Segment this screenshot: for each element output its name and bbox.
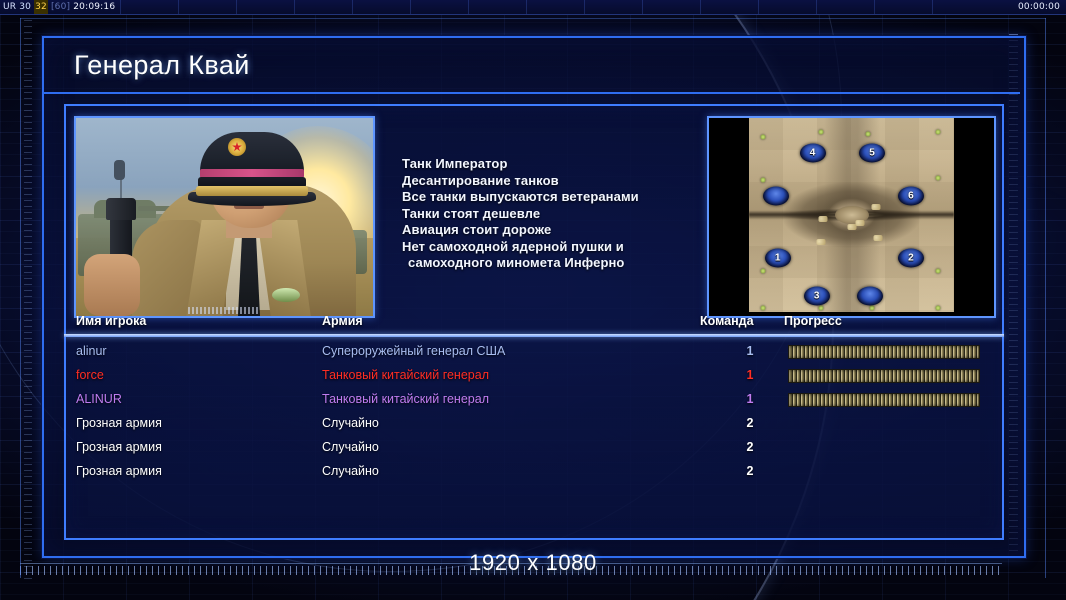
status-right-clock: 00:00:00	[1018, 0, 1066, 14]
edge-line-right	[1045, 18, 1046, 578]
minimap-resource-icon	[935, 129, 940, 134]
info-row: Танк Император Десантирование танков Все…	[66, 106, 1002, 314]
player-name-cell[interactable]: Грозная армия	[76, 435, 162, 459]
minimap-resource-icon	[761, 306, 766, 311]
edge-line-top	[20, 18, 1046, 19]
title-bar: Генерал Квай	[44, 38, 1020, 94]
status-prefix: UR	[3, 0, 16, 14]
progress-bar	[788, 393, 980, 407]
status-value-1: 30	[19, 0, 31, 14]
minimap-spawn-point-3[interactable]: 3	[804, 287, 830, 306]
progress-cell	[788, 345, 1066, 359]
description-line: Десантирование танков	[402, 173, 702, 190]
team-cell[interactable]: 2	[732, 435, 768, 459]
top-status-grid	[120, 0, 976, 14]
description-line: Нет самоходной ядерной пушки и	[402, 239, 702, 256]
progress-cell	[788, 393, 1066, 407]
minimap-spawn-point-4[interactable]: 4	[800, 143, 826, 162]
minimap-supply-pile-icon	[872, 204, 881, 210]
progress-bar	[788, 369, 980, 383]
minimap-resource-icon	[935, 176, 940, 181]
minimap-terrain: 456123	[749, 118, 954, 312]
minimap-resource-icon	[870, 306, 875, 311]
table-row[interactable]: ALINURТанковый китайский генерал1	[66, 387, 1002, 411]
table-row[interactable]: alinurСупероружейный генерал США1	[66, 339, 1002, 363]
description-line: самоходного миномета Инферно	[402, 255, 702, 272]
team-cell[interactable]: 2	[732, 459, 768, 483]
minimap-supply-pile-icon	[818, 216, 827, 222]
minimap-supply-pile-icon	[816, 239, 825, 245]
army-cell[interactable]: Случайно	[322, 411, 379, 435]
player-name-cell[interactable]: ALINUR	[76, 387, 122, 411]
general-description: Танк Император Десантирование танков Все…	[402, 156, 702, 272]
army-cell[interactable]: Танковый китайский генерал	[322, 387, 489, 411]
table-row[interactable]: Грозная армияСлучайно2	[66, 435, 1002, 459]
minimap-spawn-point-1[interactable]: 1	[765, 248, 791, 267]
team-cell[interactable]: 1	[732, 387, 768, 411]
page-title: Генерал Квай	[44, 50, 250, 81]
general-portrait	[74, 116, 375, 318]
status-clock: 20:09:16	[73, 0, 115, 14]
player-name-cell[interactable]: Грозная армия	[76, 459, 162, 483]
player-name-cell[interactable]: force	[76, 363, 104, 387]
game-lobby-screen: UR 30 32 [60] 20:09:16 00:00:00 Генерал …	[0, 0, 1066, 600]
minimap-resource-icon	[761, 178, 766, 183]
minimap-resource-icon	[818, 306, 823, 311]
minimap-preview[interactable]: 456123	[707, 116, 996, 318]
table-row[interactable]: forceТанковый китайский генерал1	[66, 363, 1002, 387]
minimap-resource-icon	[761, 135, 766, 140]
description-line: Все танки выпускаются ветеранами	[402, 189, 702, 206]
minimap-spawn-point-5[interactable]: 5	[859, 143, 885, 162]
top-status-left: UR 30 32 [60] 20:09:16	[0, 0, 115, 14]
pistol-slide	[106, 198, 136, 220]
team-cell[interactable]: 1	[732, 339, 768, 363]
team-cell[interactable]: 2	[732, 411, 768, 435]
main-frame: Генерал Квай	[42, 36, 1026, 558]
army-cell[interactable]: Случайно	[322, 459, 379, 483]
top-status-bar: UR 30 32 [60] 20:09:16 00:00:00	[0, 0, 1066, 15]
content-panel: Танк Император Десантирование танков Все…	[64, 104, 1004, 540]
minimap-supply-pile-icon	[874, 235, 883, 241]
status-value-2: 32	[34, 0, 48, 14]
minimap-spawn-point-empty[interactable]	[857, 287, 883, 306]
column-header-army: Армия	[322, 314, 363, 328]
edge-line-left	[20, 18, 21, 578]
minimap-resource-icon	[935, 269, 940, 274]
description-line: Авиация стоит дороже	[402, 222, 702, 239]
general-hand	[84, 254, 140, 316]
ruler-left	[24, 20, 32, 580]
resolution-label: 1920 x 1080	[0, 550, 1066, 576]
table-row[interactable]: Грозная армияСлучайно2	[66, 411, 1002, 435]
status-bracket: [60]	[51, 0, 70, 14]
progress-bar	[788, 345, 980, 359]
minimap-resource-icon	[818, 129, 823, 134]
general-cap-gold-braid	[196, 186, 308, 196]
column-header-team: Команда	[700, 314, 754, 328]
description-line: Танк Император	[402, 156, 702, 173]
table-row[interactable]: Грозная армияСлучайно2	[66, 459, 1002, 483]
minimap-spawn-point-2[interactable]: 2	[898, 248, 924, 267]
column-header-progress: Прогресс	[784, 314, 842, 328]
table-header-row: Имя игрока Армия Команда Прогресс	[66, 314, 1002, 334]
team-cell[interactable]: 1	[732, 363, 768, 387]
minimap-resource-icon	[865, 131, 870, 136]
army-cell[interactable]: Случайно	[322, 435, 379, 459]
army-cell[interactable]: Супероружейный генерал США	[322, 339, 505, 363]
player-name-cell[interactable]: Грозная армия	[76, 411, 162, 435]
minimap-resource-icon	[761, 269, 766, 274]
portrait-figure	[114, 160, 125, 180]
general-badge-pin	[272, 288, 300, 302]
table-body: alinurСупероружейный генерал США1forceТа…	[66, 339, 1002, 483]
minimap-spawn-point-6[interactable]: 6	[898, 186, 924, 205]
minimap-supply-pile-icon	[855, 220, 864, 226]
player-name-cell[interactable]: alinur	[76, 339, 107, 363]
column-header-player-name: Имя игрока	[76, 314, 146, 328]
army-cell[interactable]: Танковый китайский генерал	[322, 363, 489, 387]
description-line: Танки стоят дешевле	[402, 206, 702, 223]
minimap-resource-icon	[935, 306, 940, 311]
player-table: Имя игрока Армия Команда Прогресс alinur…	[66, 314, 1002, 538]
minimap-spawn-point-empty[interactable]	[763, 186, 789, 205]
portrait-caption-bar	[188, 307, 258, 314]
progress-cell	[788, 369, 1066, 383]
